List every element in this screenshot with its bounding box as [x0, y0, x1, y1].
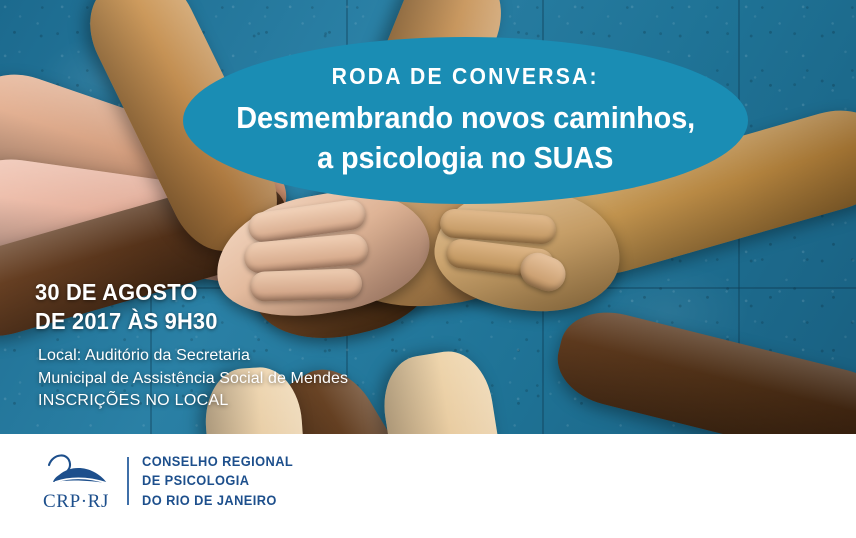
logo-name-line1: CONSELHO REGIONAL: [142, 452, 293, 471]
crp-rj-logo: CRP·RJ CONSELHO REGIONAL DE PSICOLOGIA D…: [38, 451, 301, 511]
poster-canvas: RODA DE CONVERSA: Desmembrando novos cam…: [0, 0, 856, 538]
logo-name-line3: DO RIO DE JANEIRO: [142, 491, 293, 510]
logo-mark: CRP·RJ: [38, 451, 114, 511]
finger-3: [250, 268, 363, 302]
event-venue-line2: Municipal de Assistência Social de Mende…: [38, 368, 348, 391]
event-date-line1: 30 DE AGOSTO: [35, 278, 218, 307]
event-registration-note: INSCRIÇÕES NO LOCAL: [38, 390, 348, 413]
event-eyebrow: RODA DE CONVERSA:: [332, 64, 599, 89]
event-date-block: 30 DE AGOSTO DE 2017 ÀS 9H30: [35, 278, 227, 337]
title-card: RODA DE CONVERSA: Desmembrando novos cam…: [183, 37, 748, 204]
footer-bar: CRP·RJ CONSELHO REGIONAL DE PSICOLOGIA D…: [0, 434, 856, 538]
event-headline-line1: Desmembrando novos caminhos,: [236, 98, 695, 138]
logo-divider: [127, 457, 129, 505]
crp-bird-icon: [39, 451, 113, 491]
logo-acronym: CRP·RJ: [43, 492, 109, 511]
event-date-line2: DE 2017 ÀS 9H30: [35, 307, 218, 336]
event-venue-line1: Local: Auditório da Secretaria: [38, 345, 348, 368]
logo-name-line2: DE PSICOLOGIA: [142, 471, 293, 490]
hero-photo: RODA DE CONVERSA: Desmembrando novos cam…: [0, 0, 856, 434]
event-venue-block: Local: Auditório da Secretaria Municipal…: [38, 345, 348, 413]
logo-wordmark: CONSELHO REGIONAL DE PSICOLOGIA DO RIO D…: [142, 452, 293, 509]
event-headline-line2: a psicologia no SUAS: [317, 138, 613, 178]
